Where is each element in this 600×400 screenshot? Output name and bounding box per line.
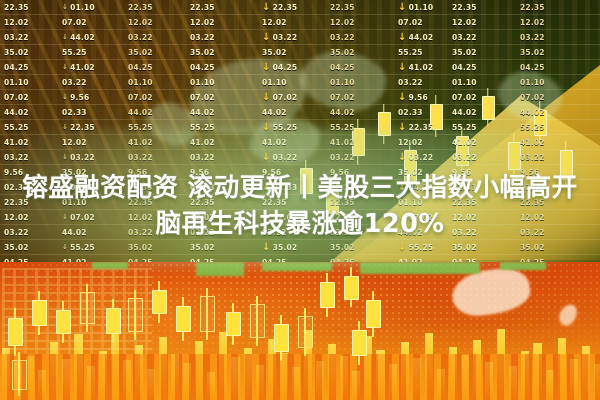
quote-row: 55.25 [398,45,433,60]
bottom-color-strip [0,354,600,400]
quote-value: 22.35 [190,0,215,15]
quote-value: 03.22 [520,30,545,45]
quote-value: 01.10 [190,75,215,90]
quote-row: 35.02 [4,45,29,60]
quote-row: 03.22 [398,75,433,90]
quote-value: 01.10 [4,75,29,90]
candlestick-body [152,290,167,314]
quote-row: ↓41.02 [398,60,433,75]
candlestick [344,276,357,298]
arrow-down-icon: ↓ [62,33,68,42]
quote-value: 35.02 [330,45,355,60]
quote-row: 35.02 [330,45,355,60]
headline-line-1: 镕盛融资配资 滚动更新丨美股三大指数小幅高开 [22,171,577,205]
candlestick-body [352,330,367,356]
quote-value: 02.33 [398,105,423,120]
quote-value: 01.10 [520,75,545,90]
candlestick-body [12,360,27,390]
quote-row: 07.02 [4,90,29,105]
quote-value: 03.22 [128,30,153,45]
quote-row: 02.33 [398,105,433,120]
market-chart-panel [0,262,600,400]
candlestick [298,316,311,346]
quote-row: 12.02 [190,15,215,30]
quote-row: 04.25 [4,60,29,75]
candlestick-body [56,310,71,334]
quote-value: 41.02 [409,60,434,75]
candlestick-body [320,282,335,308]
quote-row: 35.02 [190,45,215,60]
quote-row: 22.35 [4,0,29,15]
quote-value: 22.35 [273,0,298,15]
candlestick [352,330,365,354]
quote-row: 44.02 [520,105,545,120]
quote-value: 03.22 [330,30,355,45]
candlestick-body [106,308,121,334]
quote-row: 22.35 [190,0,215,15]
quote-row: 07.02 [520,90,545,105]
quote-value: 22.35 [330,0,355,15]
candlestick [152,290,165,312]
headline-line-2: 脑再生科技暴涨逾120% [156,207,445,241]
quote-row: 12.02 [520,15,545,30]
candlestick [250,304,263,336]
candlestick-body [200,296,215,332]
quote-row: 01.10 [4,75,29,90]
quote-value: 12.02 [330,15,355,30]
quote-row: 22.35 [330,0,355,15]
candlestick-body [8,318,23,346]
candlestick [128,298,141,330]
quote-value: 03.22 [62,75,87,90]
quote-row: ↓01.10 [62,0,95,15]
quote-row: 07.02 [330,90,355,105]
quote-value: 35.02 [4,45,29,60]
quote-row: 22.35 [452,0,477,15]
quote-row: 01.10 [128,75,153,90]
quote-value: 44.02 [4,105,29,120]
candlestick [56,310,69,332]
quote-value: 44.02 [262,105,287,120]
quote-value: 04.25 [190,60,215,75]
arrow-down-icon: ↓ [262,93,271,102]
quote-value: 04.25 [520,60,545,75]
quote-value: 07.02 [273,90,298,105]
quote-row: 01.10 [520,75,545,90]
quote-value: 03.22 [398,75,423,90]
quote-row: 04.25 [128,60,153,75]
quote-value: 02.33 [62,105,87,120]
quote-value: 07.02 [520,90,545,105]
quote-value: 22.35 [4,0,29,15]
quote-row: 07.02 [398,15,433,30]
quote-value: 55.25 [398,45,423,60]
candlestick [106,308,119,332]
quote-value: 12.02 [190,15,215,30]
candlestick [482,96,493,118]
quote-value: 12.02 [452,15,477,30]
quote-row: 35.02 [128,45,153,60]
quote-value: 03.22 [452,30,477,45]
candlestick-body [176,306,191,332]
quote-row: 01.10 [330,75,355,90]
candlestick [226,312,239,334]
quote-row: 03.22 [330,30,355,45]
quote-row: ↓01.10 [398,0,433,15]
quote-row: 22.35 [128,0,153,15]
quote-row: 44.02 [128,105,153,120]
quote-value: 07.02 [190,90,215,105]
quote-value: 01.10 [262,75,287,90]
quote-row: 12.02 [452,15,477,30]
quote-value: 04.25 [452,60,477,75]
quote-value: 22.35 [452,0,477,15]
quote-value: 35.02 [520,45,545,60]
arrow-down-icon: ↓ [398,33,407,42]
quote-value: 44.02 [70,30,95,45]
quote-value: 55.25 [62,45,87,60]
quote-row: 12.02 [128,15,153,30]
arrow-down-icon: ↓ [262,63,271,72]
quote-value: 44.02 [520,105,545,120]
quote-value: 35.02 [190,45,215,60]
quote-row: ↓41.02 [62,60,95,75]
candlestick [176,306,189,330]
quote-row: 04.25 [520,60,545,75]
quote-row: 03.22 [4,30,29,45]
quote-value: 07.02 [398,15,423,30]
news-banner-image: 22.3512.0203.2235.0204.2501.1007.0244.02… [0,0,600,400]
quote-row: 03.22 [62,75,95,90]
quote-row: 12.02 [262,15,297,30]
quote-value: 41.02 [70,60,95,75]
quote-row: 44.02 [262,105,297,120]
quote-row: 12.02 [330,15,355,30]
quote-row: 07.02 [62,15,95,30]
candlestick-body [128,298,143,332]
headline-block: 镕盛融资配资 滚动更新丨美股三大指数小幅高开 脑再生科技暴涨逾120% [0,150,600,262]
quote-value: 12.02 [128,15,153,30]
quote-value: 07.02 [4,90,29,105]
candlestick-body [80,292,95,324]
quote-row: 44.02 [190,105,215,120]
candlestick-body [366,300,381,328]
quote-value: 35.02 [128,45,153,60]
quote-row: 01.10 [190,75,215,90]
arrow-down-icon: ↓ [62,63,68,72]
quote-row: 03.22 [452,30,477,45]
candlestick [8,318,21,344]
candlestick-body [226,312,241,336]
quote-row: 44.02 [4,105,29,120]
quote-value: 22.35 [520,0,545,15]
quote-row: 02.33 [62,105,95,120]
quote-value: 01.10 [70,0,95,15]
quote-value: 04.25 [330,60,355,75]
quote-value: 44.02 [128,105,153,120]
quote-row: ↓03.22 [262,30,297,45]
quote-value: 9.56 [409,90,428,105]
quote-row: 55.25 [62,45,95,60]
arrow-down-icon: ↓ [398,3,407,12]
quote-row: ↓9.56 [398,90,433,105]
quote-row: 04.25 [330,60,355,75]
quote-row: 01.10 [452,75,477,90]
quote-row: 03.22 [190,30,215,45]
quote-row: ↓44.02 [62,30,95,45]
quote-row: 04.25 [452,60,477,75]
quote-row: 07.02 [128,90,153,105]
quote-value: 04.25 [273,60,298,75]
quote-row: 35.02 [452,45,477,60]
quote-row: 44.02 [330,105,355,120]
quote-value: 04.25 [4,60,29,75]
quote-row: 04.25 [190,60,215,75]
candlestick [80,292,93,322]
arrow-down-icon: ↓ [262,3,271,12]
quote-row: 22.35 [520,0,545,15]
quote-value: 07.02 [330,90,355,105]
quote-row: ↓07.02 [262,90,297,105]
candlestick-body [298,316,313,348]
candlestick-body [250,304,265,338]
quote-value: 44.02 [409,30,434,45]
quote-row: 07.02 [190,90,215,105]
quote-value: 07.02 [452,90,477,105]
quote-value: 12.02 [520,15,545,30]
candlestick [366,300,379,326]
candlestick [320,282,333,306]
candlestick [200,296,213,330]
quote-row: ↓44.02 [398,30,433,45]
arrow-down-icon: ↓ [62,3,68,12]
quote-value: 01.10 [128,75,153,90]
quote-row: 12.02 [4,15,29,30]
quote-value: 9.56 [70,90,89,105]
quote-value: 03.22 [190,30,215,45]
quote-value: 01.10 [330,75,355,90]
quote-value: 01.10 [452,75,477,90]
quote-row: 35.02 [520,45,545,60]
quote-value: 07.02 [62,15,87,30]
quote-row: ↓9.56 [62,90,95,105]
quote-row: 35.02 [262,45,297,60]
arrow-down-icon: ↓ [62,93,68,102]
quote-value: 01.10 [409,0,434,15]
candlestick-body [32,300,47,326]
quote-row: ↓04.25 [262,60,297,75]
candlestick [12,360,25,388]
candlestick [32,300,45,324]
quote-row: 44.02 [452,105,477,120]
arrow-down-icon: ↓ [398,93,407,102]
quote-value: 44.02 [190,105,215,120]
arrow-down-icon: ↓ [262,33,271,42]
quote-value: 22.35 [128,0,153,15]
candlestick-body [274,324,289,352]
quote-row: 01.10 [262,75,297,90]
quote-value: 04.25 [128,60,153,75]
quote-value: 44.02 [452,105,477,120]
quote-value: 03.22 [4,30,29,45]
candlestick-body [344,276,359,300]
quote-row: ↓22.35 [262,0,297,15]
quote-row: 03.22 [520,30,545,45]
quote-value: 35.02 [452,45,477,60]
quote-value: 07.02 [128,90,153,105]
quote-value: 12.02 [4,15,29,30]
quote-row: 07.02 [452,90,477,105]
quote-value: 12.02 [262,15,287,30]
quote-value: 03.22 [273,30,298,45]
candlestick-body [482,96,495,120]
quote-value: 35.02 [262,45,287,60]
arrow-down-icon: ↓ [398,63,407,72]
quote-row: 03.22 [128,30,153,45]
quote-value: 44.02 [330,105,355,120]
candlestick [274,324,287,350]
